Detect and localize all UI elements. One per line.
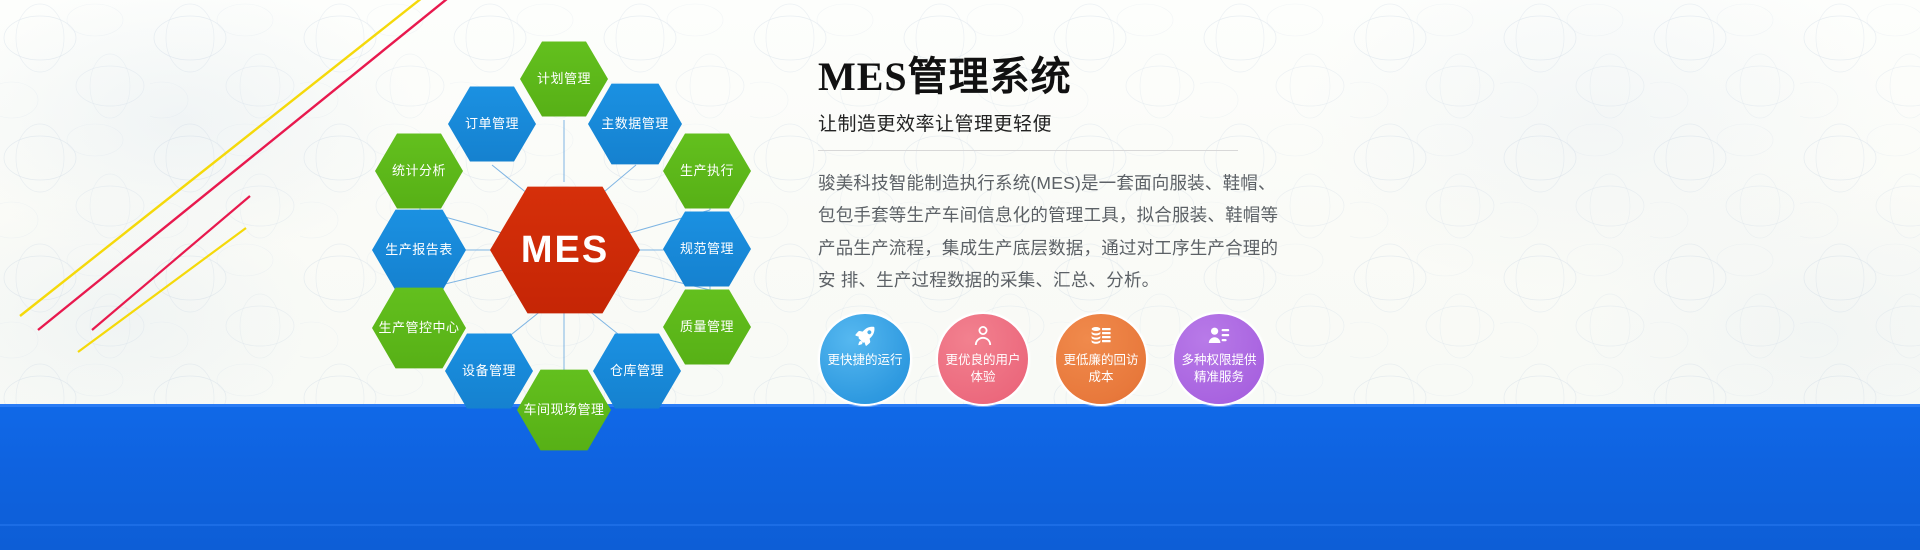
background-bottom-band (0, 404, 1920, 550)
permissions-icon (1207, 323, 1231, 349)
intro-paragraph: 骏美科技智能制造执行系统(MES)是一套面向服装、鞋帽、包包手套等生产车间信息化… (818, 167, 1288, 297)
diagram-node-label: 规范管理 (680, 241, 734, 256)
feature-badges: 更快捷的运行 更优良的用户体验 (818, 312, 1288, 412)
badge-faster-operation[interactable]: 更快捷的运行 (818, 312, 912, 406)
badge-lower-revisit-cost[interactable]: 更低廉的回访成本 (1054, 312, 1148, 406)
divider (818, 150, 1238, 151)
diagram-node-label: 车间现场管理 (523, 402, 604, 417)
mes-hexagon-diagram: MES 计划管理 订单管理 主数据管理 统计分析 生产执行 生产报告表 规范管理… (330, 10, 800, 440)
diagram-node-label: 质量管理 (680, 319, 734, 334)
diagram-node-label: 设备管理 (462, 363, 516, 378)
banner-stage: MES 计划管理 订单管理 主数据管理 统计分析 生产执行 生产报告表 规范管理… (0, 0, 1920, 550)
diagram-node-label: 生产执行 (680, 163, 734, 178)
rocket-icon (853, 323, 877, 349)
diagram-node-label: 生产报告表 (385, 242, 453, 257)
diagram-node-label: 主数据管理 (601, 116, 669, 131)
diagram-node-label: 生产管控中心 (378, 320, 459, 335)
badge-permissions-precise-service[interactable]: 多种权限提供精准服务 (1172, 312, 1266, 406)
badge-label: 更低廉的回访成本 (1056, 352, 1146, 386)
diagram-node-label: 计划管理 (537, 71, 591, 86)
page-subtitle: 让制造更效率让管理更轻便 (818, 109, 1288, 136)
badge-better-user-experience[interactable]: 更优良的用户体验 (936, 312, 1030, 406)
diagram-node-label: 订单管理 (465, 116, 519, 131)
band-lower-highlight (0, 524, 1920, 526)
page-title: MES管理系统 (818, 55, 1288, 99)
user-icon (971, 323, 995, 349)
badge-label: 更快捷的运行 (820, 352, 909, 369)
diagram-node-label: 统计分析 (392, 163, 446, 178)
coins-icon (1089, 323, 1113, 349)
diagram-core-label: MES (521, 228, 609, 273)
badge-label: 更优良的用户体验 (938, 352, 1028, 386)
badge-label: 多种权限提供精准服务 (1174, 352, 1264, 386)
diagram-node-label: 仓库管理 (610, 363, 664, 378)
banner-content: MES管理系统 让制造更效率让管理更轻便 骏美科技智能制造执行系统(MES)是一… (818, 55, 1288, 297)
